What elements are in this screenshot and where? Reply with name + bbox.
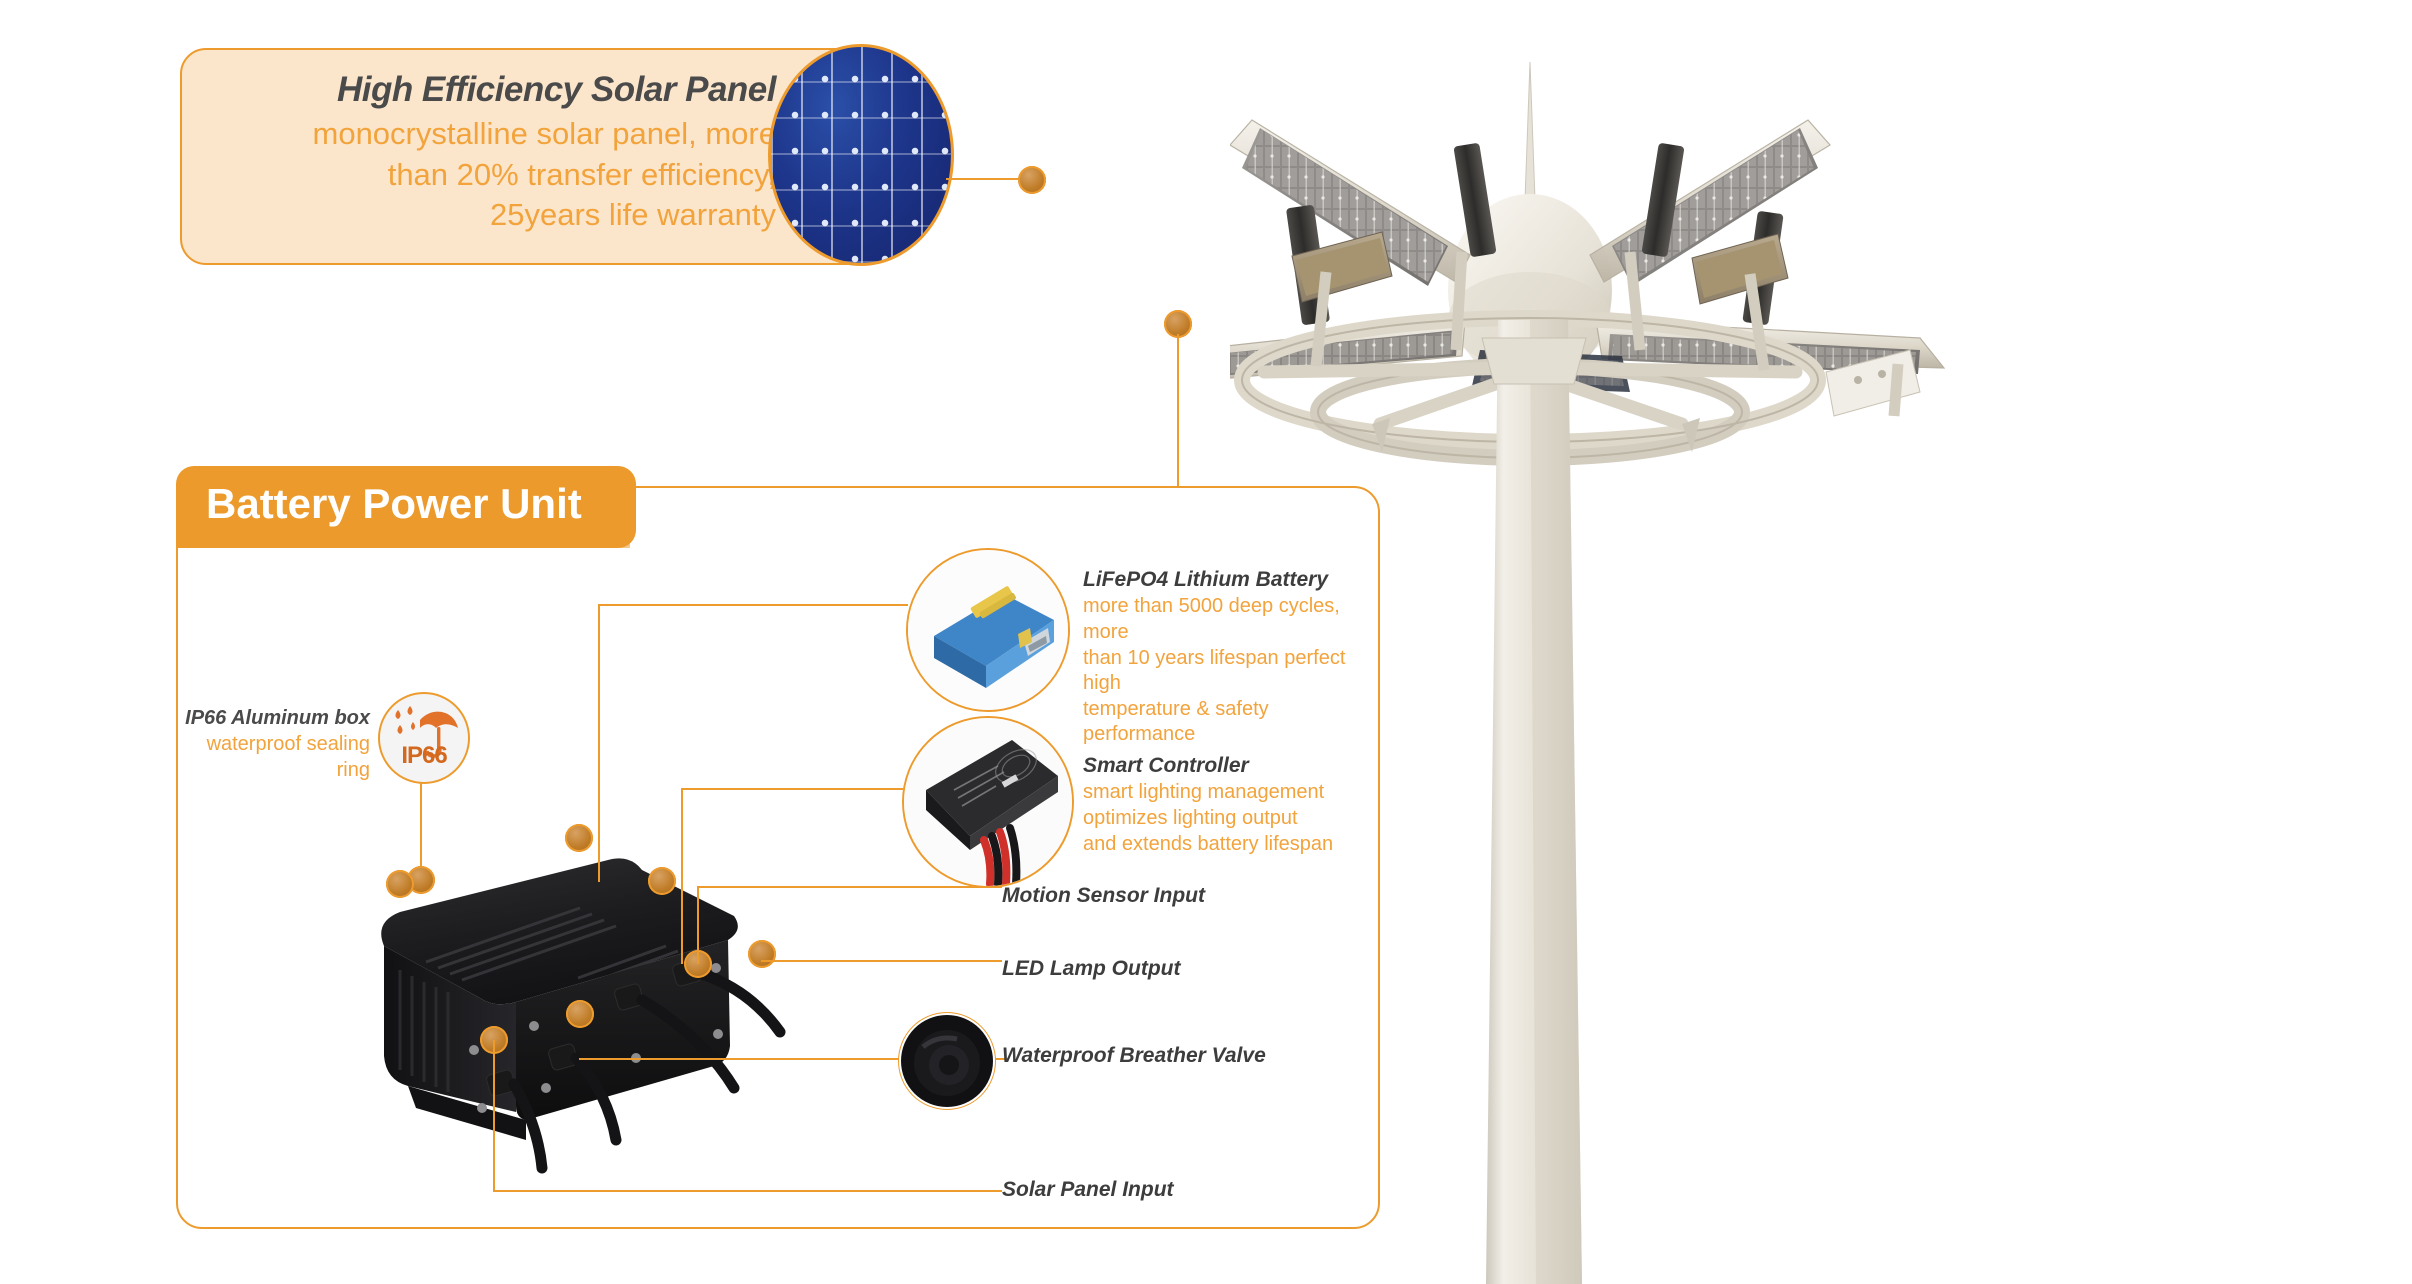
controller-text-block: Smart Controller smart lighting manageme… (1083, 752, 1373, 857)
umbrella-rain-icon: IP66 (378, 692, 470, 784)
leader-solarin-h (493, 1190, 1002, 1192)
leader-valve-h (579, 1058, 901, 1060)
lithium-battery-photo (906, 548, 1070, 712)
solar-callout-line2: than 20% transfer efficiency, (216, 156, 776, 194)
poster-canvas: High Efficiency Solar Panel monocrystall… (0, 0, 2412, 1284)
callout-dot-valve-port (566, 1000, 594, 1028)
controller-line1: smart lighting management (1083, 780, 1373, 806)
leader-controller-h (681, 788, 903, 790)
aluminum-box-photo (330, 850, 850, 1210)
leader-led-h (761, 960, 1002, 962)
breather-valve-photo (898, 1012, 996, 1110)
solar-cell-grid (771, 47, 951, 263)
battery-line1: more than 5000 deep cycles, more (1083, 594, 1373, 645)
callout-dot-led-port (748, 940, 776, 968)
solar-tower-render (1230, 20, 2412, 1284)
battery-power-unit-title: Battery Power Unit (206, 480, 582, 528)
battery-title: LiFePO4 Lithium Battery (1083, 566, 1373, 594)
leader-motion-h (697, 886, 1002, 888)
leader-solarin-v (493, 1040, 495, 1192)
ip66-text-block: IP66 Aluminum box waterproof sealing rin… (180, 705, 370, 783)
callout-dot-box-topright (648, 867, 676, 895)
leader-battery-h (598, 604, 908, 606)
leader-motion-v (697, 886, 699, 964)
smart-controller-photo (902, 716, 1074, 888)
solar-callout-title: High Efficiency Solar Panel (216, 68, 776, 112)
callout-dot-solar-panel (1018, 166, 1046, 194)
leader-controller-v (681, 788, 683, 964)
label-solar-panel-input: Solar Panel Input (1002, 1178, 1174, 1202)
label-led-lamp-output: LED Lamp Output (1002, 957, 1180, 981)
battery-power-unit-tab: Battery Power Unit (176, 466, 636, 548)
battery-line2: than 10 years lifespan perfect high (1083, 646, 1373, 697)
controller-line3: and extends battery lifespan (1083, 832, 1373, 858)
solar-callout-line1: monocrystalline solar panel, more (216, 115, 776, 153)
ip66-subtitle: waterproof sealing ring (180, 731, 370, 783)
label-waterproof-breather-valve: Waterproof Breather Valve (1002, 1044, 1266, 1068)
controller-line2: optimizes lighting output (1083, 806, 1373, 832)
leader-battery-v (598, 604, 600, 882)
callout-dot-box-top (565, 824, 593, 852)
solar-cell-icon (768, 44, 954, 266)
label-motion-sensor-input: Motion Sensor Input (1002, 884, 1205, 908)
solar-callout-line3: 25years life warranty (216, 196, 776, 234)
ip66-title: IP66 Aluminum box (180, 705, 370, 731)
battery-text-block: LiFePO4 Lithium Battery more than 5000 d… (1083, 566, 1373, 748)
ip66-badge-label: IP66 (380, 742, 468, 770)
callout-dot-box-left (386, 870, 414, 898)
battery-line3: temperature & safety performance (1083, 697, 1373, 748)
controller-title: Smart Controller (1083, 752, 1373, 780)
leader-tower-to-bpu (1177, 334, 1179, 486)
